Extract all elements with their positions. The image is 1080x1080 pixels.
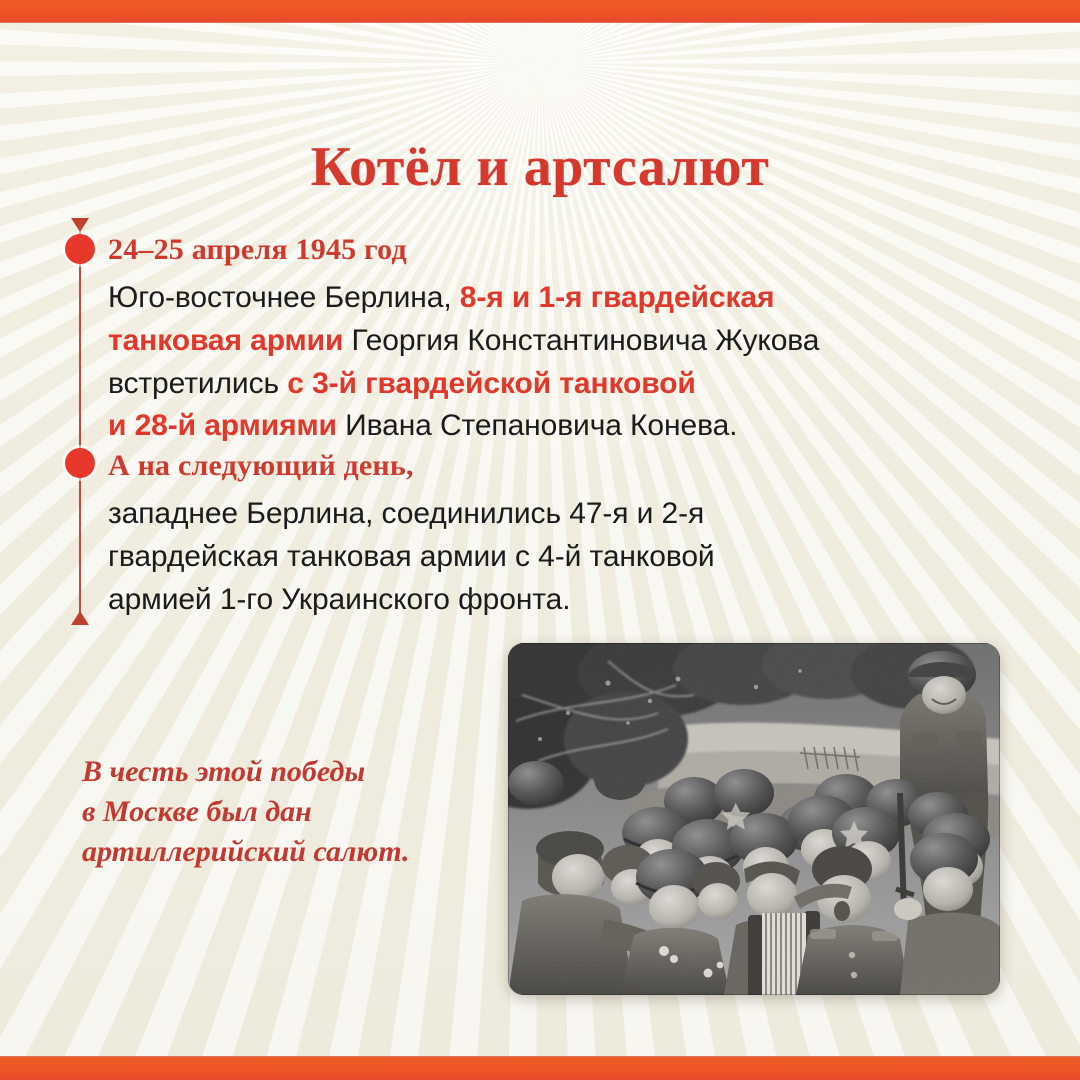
body-line: западнее Берлина, соединились 47-я и 2-я	[108, 493, 1008, 536]
plain-run: армией 1-го Украинского фронта.	[108, 583, 570, 616]
timeline-entry-1: 24–25 апреля 1945 год Юго-восточнее Берл…	[108, 232, 1008, 448]
body-line: гвардейская танковая армии с 4-й танково…	[108, 536, 1008, 579]
entry-2-body: западнее Берлина, соединились 47-я и 2-я…	[108, 493, 1008, 621]
victory-salute-caption: В честь этой победы в Москве был дан арт…	[82, 752, 502, 873]
historical-photo	[508, 643, 1000, 995]
highlighted-run: и 28-й армиями	[108, 409, 337, 442]
plain-run: Юго-восточнее Берлина,	[108, 281, 460, 314]
body-line: встретились с 3-й гвардейской танковой	[108, 363, 1008, 406]
timeline-line	[79, 224, 81, 619]
entry-1-date: 24–25 апреля 1945 год	[108, 232, 1008, 267]
plain-run: Ивана Степановича Конева.	[337, 409, 737, 442]
highlighted-run: 8-я и 1-я гвардейская	[460, 281, 775, 314]
plain-run: западнее Берлина, соединились 47-я и 2-я	[108, 497, 704, 530]
entry-1-body: Юго-восточнее Берлина, 8-я и 1-я гвардей…	[108, 277, 1008, 447]
body-line: армией 1-го Украинского фронта.	[108, 579, 1008, 622]
body-line: танковая армии Георгия Константиновича Ж…	[108, 320, 1008, 363]
body-line: Юго-восточнее Берлина, 8-я и 1-я гвардей…	[108, 277, 1008, 320]
caption-line-2: в Москве был дан	[82, 792, 502, 832]
top-orange-band	[0, 0, 1080, 22]
entry-2-heading: А на следующий день,	[108, 448, 1008, 483]
caption-line-1: В честь этой победы	[82, 752, 502, 792]
highlighted-run: с 3-й гвардейской танковой	[287, 367, 696, 400]
caption-line-3: артиллерийский салют.	[82, 832, 502, 872]
poster: Котёл и артсалют 24–25 апреля 1945 год Ю…	[0, 0, 1080, 1080]
timeline-rail	[78, 218, 82, 625]
plain-run: гвардейская танковая армии с 4-й танково…	[108, 540, 715, 573]
timeline-dot-2-icon	[65, 448, 95, 478]
plain-run: Георгия Константиновича Жукова	[343, 324, 819, 357]
timeline-entry-2: А на следующий день, западнее Берлина, с…	[108, 448, 1008, 621]
page-title: Котёл и артсалют	[0, 138, 1080, 197]
body-line: и 28-й армиями Ивана Степановича Конева.	[108, 405, 1008, 448]
timeline-cap-bottom-icon	[71, 611, 89, 625]
highlighted-run: танковая армии	[108, 324, 343, 357]
plain-run: встретились	[108, 367, 287, 400]
bottom-orange-band	[0, 1057, 1080, 1080]
timeline-dot-1-icon	[65, 234, 95, 264]
